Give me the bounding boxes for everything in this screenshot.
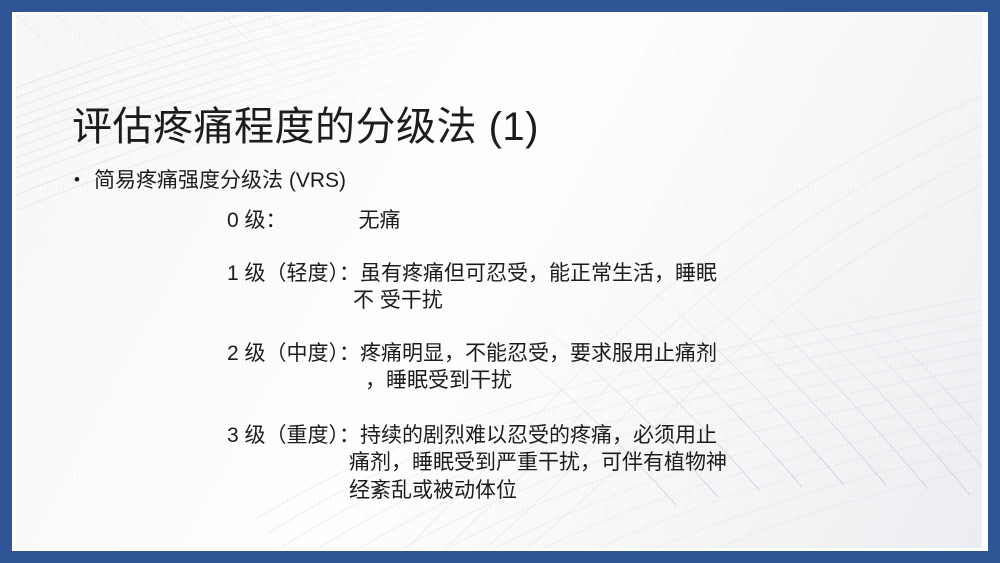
pain-level-0-line-1: 0 级：无痛 (227, 207, 401, 234)
pain-level-1-line-2: 不 受干扰 (227, 287, 717, 314)
slide-frame: 评估疼痛程度的分级法 (1) • 简易疼痛强度分级法 (VRS) 0 级：无痛 … (0, 0, 1000, 563)
pain-level-1: 1 级（轻度）：虽有疼痛但可忍受，能正常生活，睡眠 不 受干扰 (227, 260, 717, 315)
pain-level-3-line-3: 经紊乱或被动体位 (227, 477, 727, 504)
bullet-item-label: 简易疼痛强度分级法 (VRS) (94, 167, 346, 195)
pain-level-0-label: 0 级： (227, 209, 287, 232)
pain-level-2-line-1: 2 级（中度）：疼痛明显，不能忍受，要求服用止痛剂 (227, 340, 717, 367)
page-title: 评估疼痛程度的分级法 (1) (72, 104, 539, 150)
bullet-dot-icon: • (74, 167, 94, 193)
pain-level-3-line-1: 3 级（重度）：持续的剧烈难以忍受的疼痛，必须用止 (227, 422, 727, 449)
pain-level-3: 3 级（重度）：持续的剧烈难以忍受的疼痛，必须用止 痛剂，睡眠受到严重干扰，可伴… (227, 422, 727, 504)
pain-level-0: 0 级：无痛 (227, 207, 401, 234)
bullet-list-item: • 简易疼痛强度分级法 (VRS) (74, 167, 346, 195)
pain-level-2: 2 级（中度）：疼痛明显，不能忍受，要求服用止痛剂 ，睡眠受到干扰 (227, 340, 717, 395)
pain-level-0-value: 无痛 (359, 209, 401, 232)
slide-content: 评估疼痛程度的分级法 (1) • 简易疼痛强度分级法 (VRS) 0 级：无痛 … (16, 15, 982, 548)
slide-canvas: 评估疼痛程度的分级法 (1) • 简易疼痛强度分级法 (VRS) 0 级：无痛 … (16, 15, 982, 548)
pain-level-1-line-1: 1 级（轻度）：虽有疼痛但可忍受，能正常生活，睡眠 (227, 260, 717, 287)
pain-level-3-line-2: 痛剂，睡眠受到严重干扰，可伴有植物神 (227, 449, 727, 476)
pain-level-2-line-2: ，睡眠受到干扰 (227, 367, 717, 394)
